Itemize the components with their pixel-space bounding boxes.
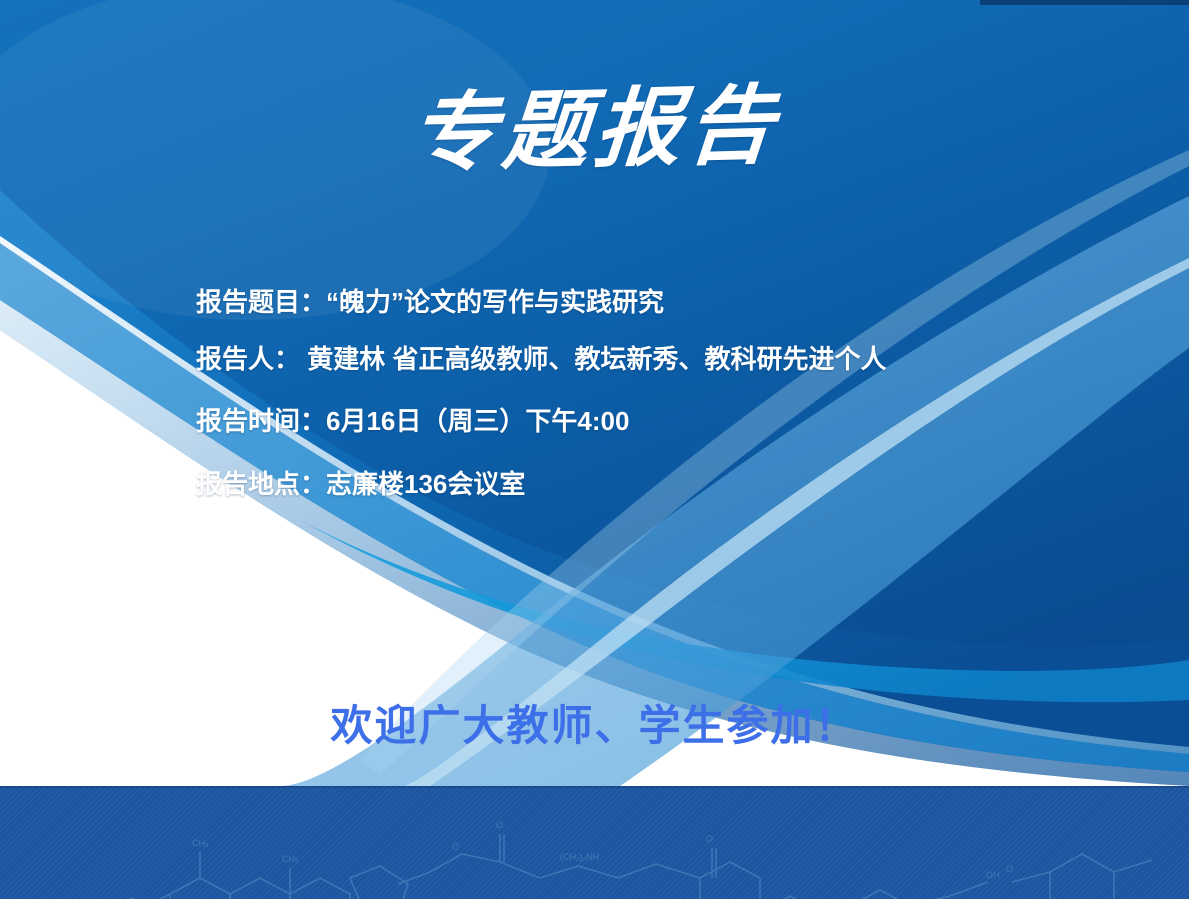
molecule-pattern: CH₃ CH₃ O O (CH₂)₂NH O OH O O [0,786,1189,899]
molecule-pattern-svg: CH₃ CH₃ O O (CH₂)₂NH O OH O O [0,786,1189,899]
welcome-message: 欢迎广大教师、学生参加！ [0,692,1189,753]
molecule-label-ch3: CH₃ [192,838,209,848]
molecule-label-o: O [452,842,459,852]
molecule-label-o2: O [496,820,503,830]
info-line-venue: 报告地点：志廉楼136会议室 [196,470,1076,499]
presentation-slide: 专题报告 报告题目：“魄力”论文的写作与实践研究 报告人： 黄建林 省正高级教师… [0,0,1189,899]
molecule-label-o4: O [1006,864,1013,874]
info-block: 报告题目：“魄力”论文的写作与实践研究 报告人： 黄建林 省正高级教师、教坛新秀… [196,288,1076,498]
title-container: 专题报告 [0,85,1189,175]
molecule-label-o3: O [706,834,713,844]
bottom-decor-bar: CH₃ CH₃ O O (CH₂)₂NH O OH O O [0,786,1189,899]
molecule-label-ch3-2: CH₃ [282,854,299,864]
molecule-label-oh: OH [986,870,1000,880]
molecule-label-chain: (CH₂)₂NH [560,852,599,862]
info-line-datetime: 报告时间：6月16日（周三）下午4:00 [196,407,1076,436]
info-line-topic: 报告题目：“魄力”论文的写作与实践研究 [196,288,1076,317]
page-title: 专题报告 [406,81,782,180]
top-right-sliver [980,0,1189,5]
info-line-speaker: 报告人： 黄建林 省正高级教师、教坛新秀、教科研先进个人 [196,345,1076,374]
